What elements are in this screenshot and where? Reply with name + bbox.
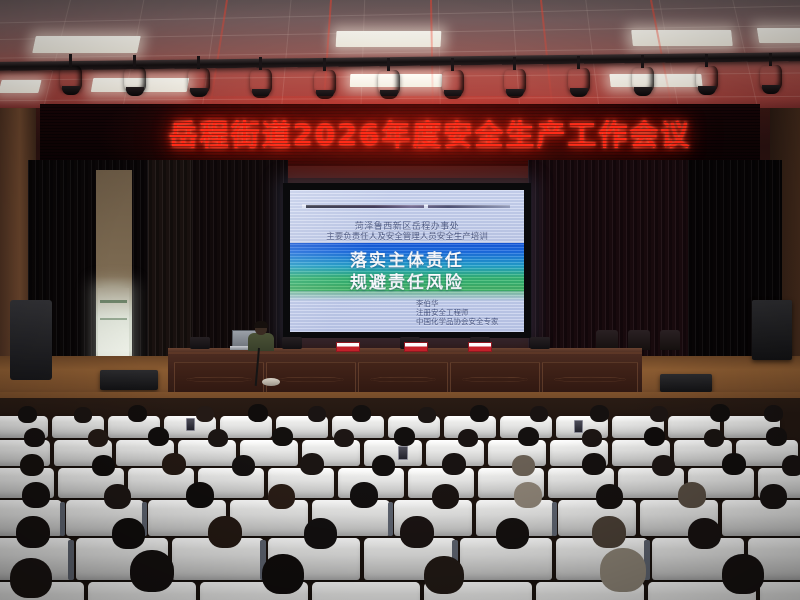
stage-lamp xyxy=(312,66,338,100)
slide-presenter-org: 中国化学品协会安全专家 xyxy=(416,316,499,327)
attendee-head xyxy=(268,484,295,509)
audience-area xyxy=(0,398,800,600)
presenter-person xyxy=(248,322,274,350)
smartphone[interactable] xyxy=(186,418,195,431)
attendee-head xyxy=(590,405,609,422)
seat-armrest xyxy=(552,502,557,536)
attendee-head xyxy=(104,484,131,509)
stage-chair xyxy=(660,330,680,350)
attendee-head xyxy=(592,516,626,548)
led-banner-text: 岳程街道2026年度安全生产工作会议 xyxy=(110,112,750,154)
attendee-head xyxy=(10,558,52,598)
attendee-head xyxy=(20,454,44,476)
attendee-head xyxy=(518,427,539,446)
stage-lamp xyxy=(58,62,84,96)
attendee-head xyxy=(88,429,108,447)
stage-floor-monitor-right xyxy=(660,374,712,392)
doorway-railing xyxy=(100,318,127,320)
head-table-panel xyxy=(542,362,638,394)
attendee-head xyxy=(300,453,324,475)
slide-divider-bar xyxy=(304,205,510,208)
attendee-head xyxy=(394,427,415,446)
attendee-head xyxy=(782,455,800,476)
attendee-head xyxy=(710,404,730,422)
attendee-head xyxy=(514,482,542,508)
attendee-head xyxy=(432,484,459,509)
attendee-head xyxy=(760,484,787,509)
attendee-head xyxy=(74,407,92,423)
attendee-head xyxy=(18,406,37,423)
attendee-head xyxy=(512,455,535,476)
name-placard xyxy=(404,342,428,352)
seat xyxy=(178,440,236,466)
stage-lamp xyxy=(440,66,466,100)
attendee-head xyxy=(162,453,186,475)
smartphone[interactable] xyxy=(398,446,408,460)
attendee-head xyxy=(128,405,147,422)
slide-title-line2: 规避责任风险 xyxy=(290,268,524,293)
table-microphone-unit xyxy=(190,337,210,349)
attendee-head xyxy=(458,429,478,447)
slide-course-line: 主要负责任人及安全管理人员安全生产培训 xyxy=(290,230,524,242)
attendee-head xyxy=(418,407,436,423)
attendee-head xyxy=(352,405,371,422)
slide-bar-marker xyxy=(424,204,428,208)
attendee-head xyxy=(130,550,174,592)
attendee-head xyxy=(350,482,378,508)
attendee-head xyxy=(530,406,548,422)
stage-speaker-cabinet-left xyxy=(10,300,52,380)
projection-screen: 菏泽鲁西新区岳程办事处 主要负责任人及安全管理人员安全生产培训 落实主体责任 规… xyxy=(290,190,524,332)
attendee-head xyxy=(92,455,115,476)
attendee-head xyxy=(644,427,665,446)
attendee-head xyxy=(208,429,228,447)
attendee-head xyxy=(764,405,783,422)
attendee-head xyxy=(652,455,675,476)
floor-microphone-base xyxy=(262,378,280,386)
stage-speaker-cabinet-right xyxy=(752,300,792,360)
attendee-head xyxy=(582,453,606,475)
attendee-head xyxy=(148,427,169,446)
seat xyxy=(722,500,800,536)
stage-curtain-left-inner xyxy=(148,160,192,378)
conference-hall-photo: 岳程街道2026年度安全生产工作会议 菏泽鲁西新区岳程办事处 主要负责任人及安全… xyxy=(0,0,800,600)
stage-lamp xyxy=(694,62,720,96)
stage-lamp xyxy=(566,64,592,98)
seat xyxy=(618,468,684,498)
attendee-head xyxy=(24,428,45,447)
attendee-head xyxy=(442,453,466,475)
head-table-panel xyxy=(450,362,540,394)
attendee-head xyxy=(496,518,529,549)
attendee-head xyxy=(596,484,623,509)
attendee-head xyxy=(186,482,214,508)
table-microphone-unit xyxy=(282,337,302,349)
stage-lamp xyxy=(248,65,274,99)
stage-lamp xyxy=(758,61,784,95)
attendee-head xyxy=(582,429,602,447)
seat-armrest xyxy=(60,502,65,536)
stage-lamp xyxy=(376,66,402,100)
attendee-head xyxy=(334,429,354,447)
attendee-head xyxy=(600,548,646,592)
seat-armrest xyxy=(68,540,74,580)
attendee-head xyxy=(470,405,489,422)
attendee-head xyxy=(16,516,50,548)
attendee-head xyxy=(262,554,304,594)
attendee-head xyxy=(232,455,255,476)
attendee-head xyxy=(304,518,337,549)
attendee-head xyxy=(248,404,268,422)
attendee-head xyxy=(400,516,434,548)
stage-chair xyxy=(628,330,650,350)
attendee-head xyxy=(424,556,464,594)
seat xyxy=(760,582,800,600)
attendee-head xyxy=(372,455,395,476)
name-placard xyxy=(468,342,492,352)
stage-lamp xyxy=(502,65,528,99)
led-banner-board: 岳程街道2026年度安全生产工作会议 xyxy=(40,104,760,166)
stage-chair xyxy=(596,330,618,350)
attendee-head xyxy=(308,406,326,422)
attendee-head xyxy=(722,554,764,594)
head-table-panel xyxy=(266,362,356,394)
attendee-head xyxy=(688,518,721,549)
attendee-head xyxy=(722,453,746,475)
smartphone[interactable] xyxy=(574,420,583,433)
stage-lamp xyxy=(122,63,148,97)
attendee-head xyxy=(196,406,214,422)
stage-lamp xyxy=(630,63,656,97)
seat xyxy=(128,468,194,498)
head-table-panel xyxy=(358,362,448,394)
attendee-head xyxy=(208,516,242,548)
attendee-head xyxy=(272,427,293,446)
seat-armrest xyxy=(388,502,393,536)
name-placard xyxy=(336,342,360,352)
attendee-head xyxy=(678,482,706,508)
attendee-head xyxy=(704,429,724,447)
attendee-head xyxy=(112,518,145,549)
attendee-head xyxy=(22,482,50,508)
seat xyxy=(312,582,420,600)
attendee-head xyxy=(650,406,668,422)
head-table-panel xyxy=(174,362,264,394)
slide-bar-marker xyxy=(302,204,306,208)
stage-lamp xyxy=(186,64,212,98)
doorway-railing xyxy=(100,300,127,303)
table-microphone-unit xyxy=(530,337,550,349)
attendee-head xyxy=(766,427,787,446)
stage-floor-monitor-left xyxy=(100,370,158,390)
